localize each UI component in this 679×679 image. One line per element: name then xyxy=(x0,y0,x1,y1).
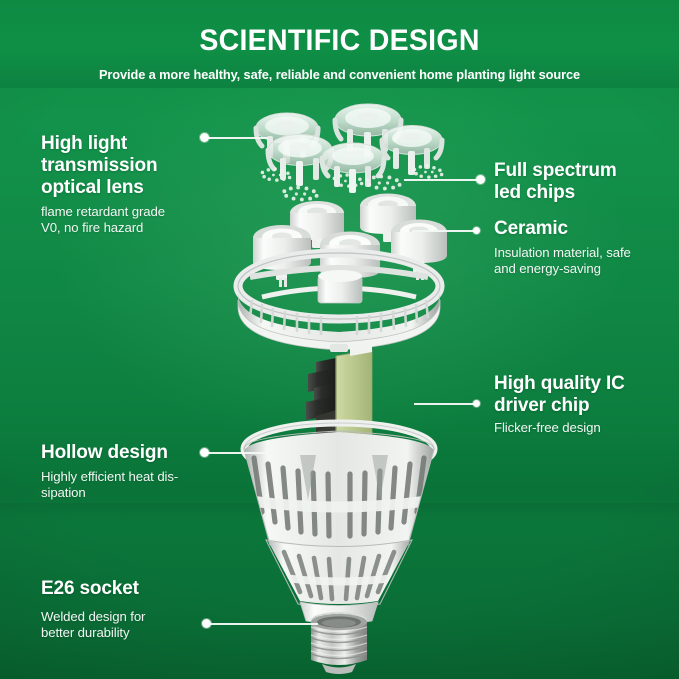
callout-optical-lens: High light transmission optical lens fla… xyxy=(41,133,221,236)
callout-subtitle-optical-lens: flame retardant grade V0, no fire hazard xyxy=(41,204,221,236)
header-banner: SCIENTIFIC DESIGN Provide a more healthy… xyxy=(0,0,679,88)
callout-ceramic: Ceramic Insulation material, safe and en… xyxy=(494,218,674,277)
page-subtitle: Provide a more healthy, safe, reliable a… xyxy=(10,56,669,82)
callout-title-ic-driver: High quality IC driver chip xyxy=(494,373,674,417)
callout-subtitle-e26-socket: Welded design for better durability xyxy=(41,609,231,641)
callout-title-e26-socket: E26 socket xyxy=(41,578,231,600)
leader-dot-ceramic xyxy=(473,227,480,234)
leader-line-ceramic xyxy=(412,230,476,232)
callout-subtitle-hollow-design: Highly efficient heat dis- sipation xyxy=(41,469,231,501)
callout-subtitle-ceramic: Insulation material, safe and energy-sav… xyxy=(494,245,674,277)
callout-ic-driver: High quality IC driver chip Flicker-free… xyxy=(494,373,674,436)
leader-line-led-chips xyxy=(404,179,480,181)
callout-hollow-design: Hollow design Highly efficient heat dis-… xyxy=(41,442,231,501)
callout-title-optical-lens: High light transmission optical lens xyxy=(41,133,221,199)
callout-e26-socket: E26 socket Welded design for better dura… xyxy=(41,578,231,641)
leader-dot-led-chips xyxy=(476,175,485,184)
callout-title-hollow-design: Hollow design xyxy=(41,442,231,464)
leader-dot-ic-driver xyxy=(473,400,480,407)
background-band-seam xyxy=(0,503,679,517)
infographic-canvas: SCIENTIFIC DESIGN Provide a more healthy… xyxy=(0,0,679,679)
callout-led-chips: Full spectrum led chips xyxy=(494,160,669,204)
callout-title-ceramic: Ceramic xyxy=(494,218,674,240)
callout-title-led-chips: Full spectrum led chips xyxy=(494,160,669,204)
page-title: SCIENTIFIC DESIGN xyxy=(17,0,662,56)
callout-subtitle-ic-driver: Flicker-free design xyxy=(494,420,674,436)
leader-line-ic-driver xyxy=(414,403,476,405)
